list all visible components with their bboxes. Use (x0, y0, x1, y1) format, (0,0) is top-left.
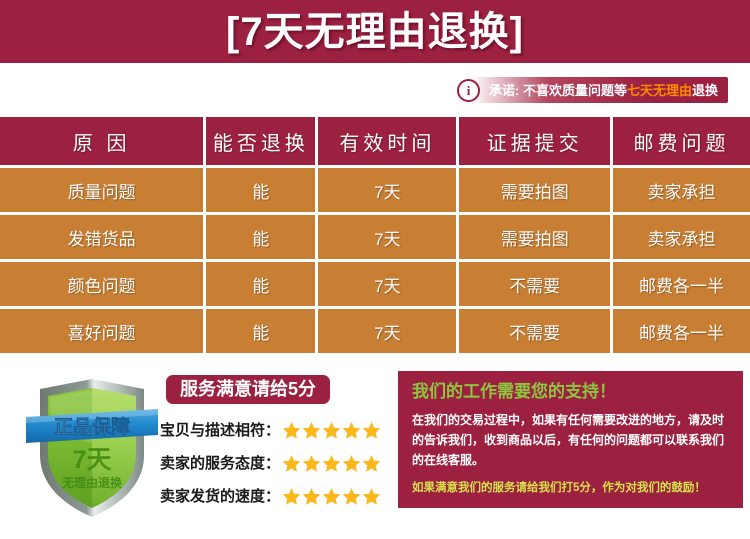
star-icon (302, 454, 321, 473)
notice-strip: i 承诺: 不喜欢质量问题等七天无理由退换 (0, 63, 750, 117)
bottom-section: 正品保障 7天 无理由退换 服务满意请给5分 宝贝与描述相符： 卖家的服务态度： (0, 363, 750, 539)
support-panel: 我们的工作需要您的支持！ 在我们的交易过程中，如果有任何需要改进的地方，请及时的… (398, 371, 743, 508)
notice-highlight: 七天无理由 (627, 83, 692, 98)
table-row: 发错货品 能 7天 需要拍图 卖家承担 (0, 215, 750, 259)
cell-shipping: 邮费各一半 (613, 262, 750, 306)
star-icon (282, 421, 301, 440)
rating-label: 卖家的服务态度： (160, 456, 280, 471)
title-banner: [7天无理由退换] (0, 0, 750, 63)
star-rating (282, 421, 382, 440)
shield-icon: 正品保障 7天 无理由退换 (22, 373, 162, 523)
star-icon (302, 487, 321, 506)
cell-returnable: 能 (206, 262, 315, 306)
promo-page: [7天无理由退换] i 承诺: 不喜欢质量问题等七天无理由退换 原 因 能否退换… (0, 0, 750, 539)
cell-evidence: 不需要 (459, 309, 610, 353)
cell-reason: 发错货品 (0, 215, 203, 259)
cell-returnable: 能 (206, 309, 315, 353)
shield-ribbon-label: 正品保障 (54, 415, 130, 438)
shield-days-label: 7天 (73, 446, 112, 474)
table-row: 质量问题 能 7天 需要拍图 卖家承担 (0, 168, 750, 212)
cell-evidence: 不需要 (459, 262, 610, 306)
star-icon (322, 487, 341, 506)
star-icon (342, 421, 361, 440)
star-rating (282, 454, 382, 473)
column-header-shipping: 邮费问题 (613, 117, 750, 165)
cell-returnable: 能 (206, 168, 315, 212)
cell-evidence: 需要拍图 (459, 215, 610, 259)
cell-returnable: 能 (206, 215, 315, 259)
cell-reason: 喜好问题 (0, 309, 203, 353)
promise-notice: i 承诺: 不喜欢质量问题等七天无理由退换 (455, 77, 728, 103)
rating-label: 宝贝与描述相符： (160, 423, 280, 438)
star-icon (322, 421, 341, 440)
cell-shipping: 卖家承担 (613, 168, 750, 212)
rating-row-service: 卖家的服务态度： (160, 447, 390, 480)
cell-valid-time: 7天 (318, 168, 456, 212)
cell-evidence: 需要拍图 (459, 168, 610, 212)
star-rating (282, 487, 382, 506)
ratings-block: 服务满意请给5分 宝贝与描述相符： 卖家的服务态度： (160, 375, 390, 513)
notice-prefix: 承诺: 不喜欢质量问题等 (489, 83, 627, 98)
support-footer: 如果满意我们的服务请给我们打5分，作为对我们的鼓励！ (412, 480, 729, 496)
star-icon (362, 454, 381, 473)
notice-text: 承诺: 不喜欢质量问题等七天无理由退换 (489, 84, 718, 97)
cell-shipping: 邮费各一半 (613, 309, 750, 353)
guarantee-shield-badge: 正品保障 7天 无理由退换 (22, 373, 162, 523)
info-icon: i (457, 79, 480, 102)
star-icon (302, 421, 321, 440)
column-header-returnable: 能否退换 (206, 117, 315, 165)
shield-subtitle-label: 无理由退换 (61, 475, 123, 490)
star-icon (282, 454, 301, 473)
star-icon (322, 454, 341, 473)
support-title: 我们的工作需要您的支持！ (412, 383, 729, 400)
column-header-reason: 原 因 (0, 117, 203, 165)
table-row: 颜色问题 能 7天 不需要 邮费各一半 (0, 262, 750, 306)
star-icon (342, 454, 361, 473)
rating-label: 卖家发货的速度： (160, 489, 280, 504)
cell-valid-time: 7天 (318, 215, 456, 259)
rating-row-shipping-speed: 卖家发货的速度： (160, 480, 390, 513)
star-icon (342, 487, 361, 506)
cell-valid-time: 7天 (318, 262, 456, 306)
ratings-headline: 服务满意请给5分 (166, 375, 330, 404)
star-icon (362, 487, 381, 506)
column-header-evidence: 证据提交 (459, 117, 610, 165)
column-header-valid-time: 有效时间 (318, 117, 456, 165)
cell-shipping: 卖家承担 (613, 215, 750, 259)
table-row: 喜好问题 能 7天 不需要 邮费各一半 (0, 309, 750, 353)
rating-row-description: 宝贝与描述相符： (160, 414, 390, 447)
page-title: [7天无理由退换] (226, 12, 524, 52)
support-body: 在我们的交易过程中，如果有任何需要改进的地方，请及时的告诉我们，收到商品以后，有… (412, 411, 729, 470)
cell-reason: 质量问题 (0, 168, 203, 212)
star-icon (282, 487, 301, 506)
star-icon (362, 421, 381, 440)
table-header-row: 原 因 能否退换 有效时间 证据提交 邮费问题 (0, 117, 750, 165)
notice-suffix: 退换 (692, 83, 718, 98)
cell-reason: 颜色问题 (0, 262, 203, 306)
cell-valid-time: 7天 (318, 309, 456, 353)
return-policy-table: 原 因 能否退换 有效时间 证据提交 邮费问题 质量问题 能 7天 需要拍图 卖… (0, 117, 750, 353)
